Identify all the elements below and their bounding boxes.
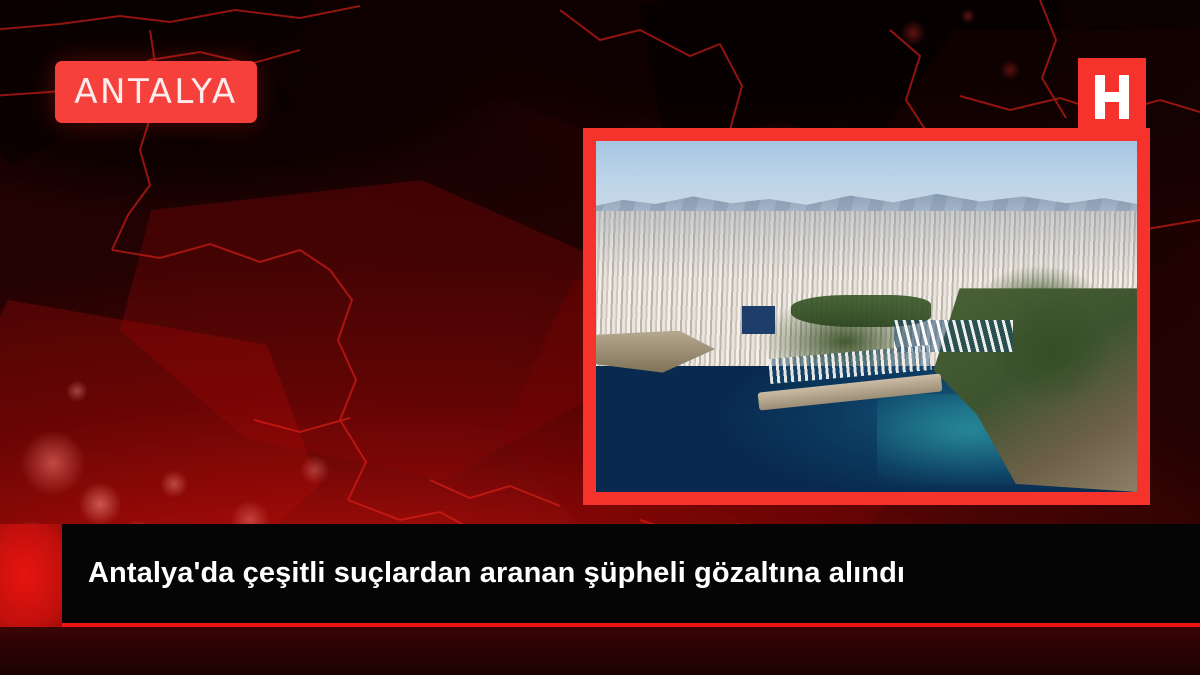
news-card: ANTALYA Antalya'da çeşitli suçlardan ara… bbox=[0, 0, 1200, 675]
city-badge: ANTALYA bbox=[55, 61, 257, 123]
bottom-background bbox=[0, 627, 1200, 675]
letter-h-icon bbox=[1095, 75, 1129, 119]
caption-accent-rule bbox=[62, 623, 1200, 627]
photo-blue-building bbox=[742, 306, 774, 334]
headline: Antalya'da çeşitli suçlardan aranan şüph… bbox=[62, 556, 919, 591]
caption-bar: Antalya'da çeşitli suçlardan aranan şüph… bbox=[62, 524, 1200, 623]
photo-frame bbox=[583, 128, 1150, 505]
brand-logo[interactable] bbox=[1078, 58, 1146, 136]
caption-left-strip bbox=[0, 524, 62, 627]
city-badge-label: ANTALYA bbox=[74, 75, 237, 109]
aerial-photo bbox=[596, 141, 1137, 492]
